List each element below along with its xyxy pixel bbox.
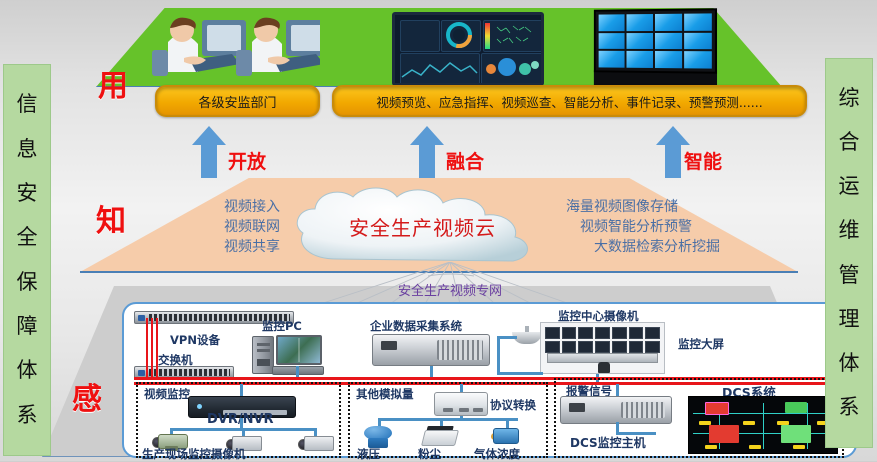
video-wall-display bbox=[594, 8, 717, 74]
cloud-right-item-1: 海量视频图像存储 bbox=[566, 197, 796, 217]
left-vertical-panel: 信 息 安 全 保 障 体 系 bbox=[3, 64, 51, 456]
control-big-screen-label: 监控大屏 bbox=[678, 336, 724, 352]
control-center-camera-icon bbox=[512, 326, 542, 344]
dust-label: 粉尘 bbox=[418, 446, 441, 462]
layer-glyph-perception: 感 bbox=[72, 374, 102, 418]
cloud-capabilities-right: 海量视频图像存储 视频智能分析预警 大数据检索分析挖掘 bbox=[566, 197, 796, 257]
data-collector-label: 企业数据采集系统 bbox=[370, 318, 462, 334]
cloud-left-item-1: 视频接入 bbox=[140, 197, 280, 217]
wire-cam-3 bbox=[314, 428, 317, 436]
monitor-pc-tower-icon bbox=[252, 336, 274, 374]
red-cable-riser-3 bbox=[156, 318, 158, 380]
right-vertical-panel: 综 合 运 维 管 理 体 系 bbox=[825, 58, 873, 448]
hydraulic-label: 液压 bbox=[357, 446, 380, 462]
wire-domecam-v bbox=[497, 336, 500, 374]
gas-label: 气体浓度 bbox=[474, 446, 520, 462]
layer-glyph-application: 用 bbox=[98, 61, 128, 105]
right-panel-char-5: 理 bbox=[839, 309, 860, 330]
red-cable-riser-2 bbox=[151, 318, 153, 380]
wire-domecam-h bbox=[497, 372, 543, 375]
wire-dcs-up bbox=[616, 384, 619, 396]
site-camera-label: 生产现场监控摄像机 bbox=[142, 446, 246, 462]
left-panel-char-7: 系 bbox=[17, 405, 38, 426]
arrow-label-open: 开放 bbox=[228, 147, 266, 174]
left-panel-char-3: 全 bbox=[17, 227, 38, 248]
protocol-converter-label: 协议转换 bbox=[490, 397, 536, 413]
video-surveillance-title: 视频监控 bbox=[144, 386, 190, 402]
dcs-host-icon bbox=[560, 396, 672, 424]
control-big-screen-icon bbox=[540, 322, 665, 374]
layer-glyph-cognition: 知 bbox=[96, 196, 126, 240]
wire-sensors-h bbox=[378, 418, 518, 421]
right-panel-char-6: 体 bbox=[839, 353, 860, 374]
red-cable-riser-1 bbox=[146, 318, 148, 380]
dcs-host-label: DCS监控主机 bbox=[570, 434, 646, 451]
arrow-label-intelligent: 智能 bbox=[684, 147, 722, 174]
right-panel-char-0: 综 bbox=[839, 88, 860, 109]
gas-sensor-icon bbox=[491, 424, 521, 448]
wire-domecam-top bbox=[497, 336, 517, 339]
right-panel-char-7: 系 bbox=[839, 397, 860, 418]
arrow-label-fusion: 融合 bbox=[446, 147, 484, 174]
private-network-label: 安全生产视频专网 bbox=[300, 280, 600, 299]
left-panel-char-2: 安 bbox=[17, 183, 38, 204]
application-box-functions[interactable]: 视频预览、应急指挥、视频巡查、智能分析、事件记录、预警预测...... bbox=[332, 85, 807, 117]
dcs-system-screen bbox=[688, 396, 838, 454]
left-panel-char-5: 障 bbox=[17, 316, 38, 337]
left-panel-char-0: 信 bbox=[17, 94, 38, 115]
wire-cam-2 bbox=[242, 428, 245, 436]
arrow-fusion bbox=[410, 126, 444, 178]
left-panel-char-4: 保 bbox=[17, 272, 38, 293]
right-panel-char-4: 管 bbox=[839, 265, 860, 286]
right-panel-char-2: 运 bbox=[839, 176, 860, 197]
cloud-left-item-2: 视频联网 bbox=[140, 217, 280, 237]
cloud-right-item-2: 视频智能分析预警 bbox=[566, 217, 796, 237]
box-camera-icon-2 bbox=[298, 436, 334, 451]
analog-signal-title: 其他模拟量 bbox=[356, 386, 414, 402]
cloud-left-item-3: 视频共享 bbox=[140, 237, 280, 257]
operators-illustration bbox=[150, 6, 320, 82]
data-collector-icon bbox=[372, 334, 490, 366]
cloud-right-item-3: 大数据检索分析挖掘 bbox=[566, 237, 796, 257]
wire-proto-down bbox=[460, 416, 463, 420]
arrow-open bbox=[192, 126, 226, 178]
diagram-canvas: 用 知 感 各级安监部门 视频预览、应急指挥、视频巡查、智能分析、事件记录、预警… bbox=[0, 0, 877, 461]
vpn-device-label: VPN设备 bbox=[170, 332, 220, 348]
protocol-converter-icon bbox=[434, 392, 488, 416]
monitor-pc-screen-icon bbox=[276, 335, 322, 365]
monitor-pc-label: 监控PC bbox=[262, 318, 302, 334]
wire-dvr-up bbox=[240, 384, 243, 396]
bi-dashboard-screen bbox=[392, 12, 544, 86]
application-box-department[interactable]: 各级安监部门 bbox=[155, 85, 320, 117]
switch-device-label: 交换机 bbox=[158, 352, 193, 368]
right-panel-char-1: 合 bbox=[839, 132, 860, 153]
cloud-title: 安全生产视频云 bbox=[285, 212, 560, 241]
left-panel-char-6: 体 bbox=[17, 360, 38, 381]
cloud-capabilities-left: 视频接入 视频联网 视频共享 bbox=[140, 197, 280, 257]
left-panel-char-1: 息 bbox=[17, 139, 38, 160]
right-panel-char-3: 维 bbox=[839, 220, 860, 241]
wire-proto-up bbox=[460, 384, 463, 392]
